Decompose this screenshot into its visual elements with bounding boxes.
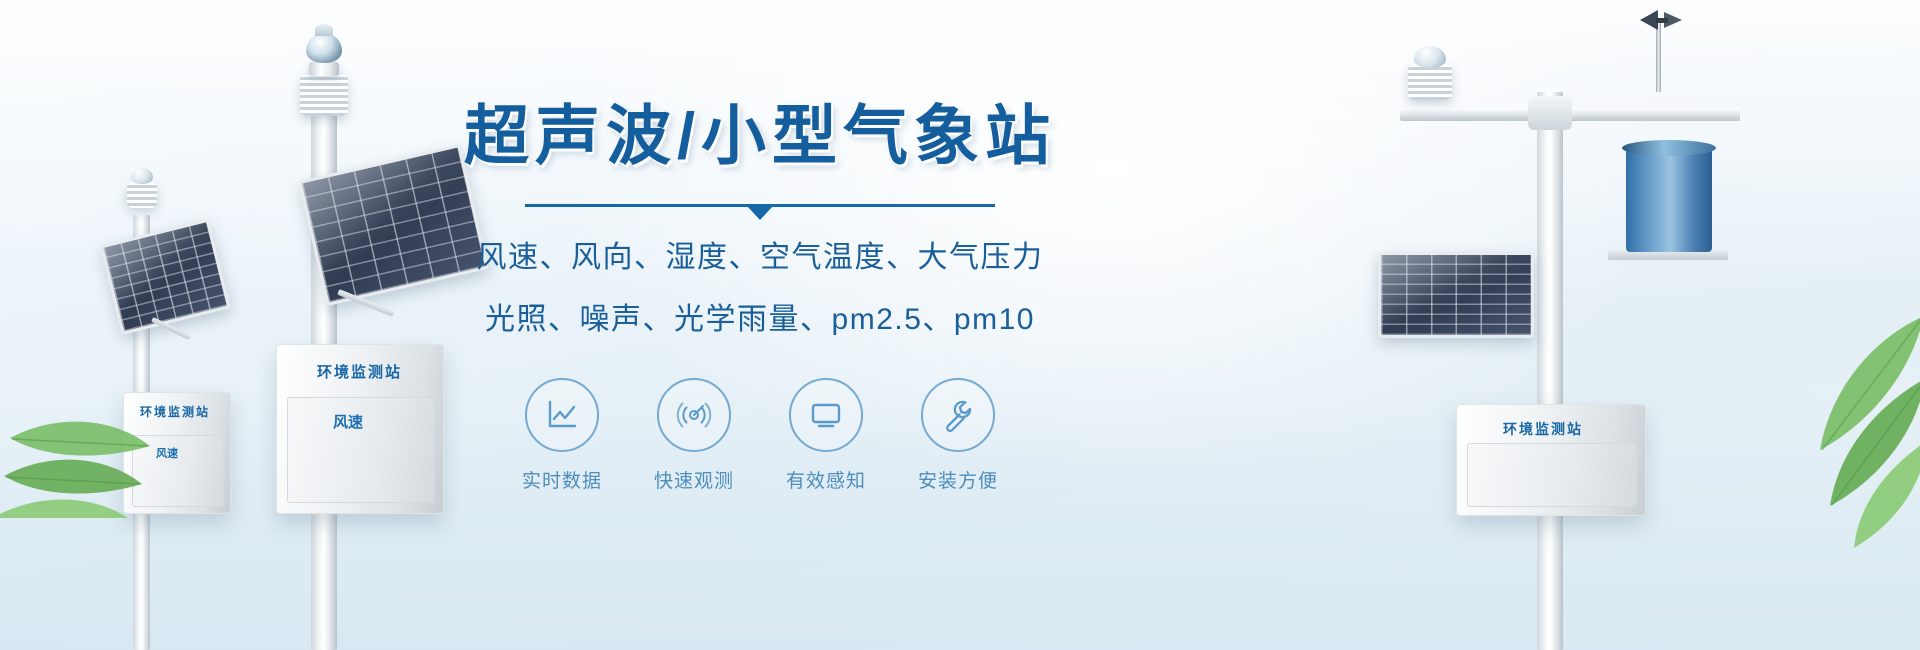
subtitle-line-1: 风速、风向、湿度、空气温度、大气压力 bbox=[440, 235, 1080, 282]
palm-leaf-left bbox=[0, 318, 180, 518]
radiation-shield-right bbox=[1408, 64, 1452, 100]
line-chart-icon bbox=[542, 395, 582, 435]
radiation-shield-tall bbox=[300, 74, 348, 116]
sensor-cap bbox=[315, 24, 333, 36]
feature-label: 快速观测 bbox=[651, 466, 737, 493]
radiation-shield-small bbox=[127, 182, 157, 208]
ultrasonic-wind-sensor bbox=[306, 33, 342, 63]
sensor-dome-small bbox=[131, 168, 153, 184]
feature-item-fast-observation[interactable]: 快速观测 bbox=[651, 378, 737, 493]
feature-icon-circle bbox=[921, 378, 995, 452]
optical-rain-gauge bbox=[1626, 148, 1712, 252]
rain-gauge-rim bbox=[1622, 140, 1716, 156]
feature-list: 实时数据 快速观测 bbox=[440, 378, 1080, 493]
enclosure-door bbox=[1467, 443, 1637, 507]
right-weather-station-photo: 环境监测站 bbox=[1360, 0, 1920, 650]
feature-item-easy-install[interactable]: 安装方便 bbox=[915, 378, 1001, 493]
feature-label: 安装方便 bbox=[915, 466, 1001, 493]
wind-vane-icon bbox=[1636, 6, 1686, 40]
feature-label: 有效感知 bbox=[783, 466, 869, 493]
page-title: 超声波/小型气象站 bbox=[440, 100, 1080, 173]
enclosure-right: 环境监测站 bbox=[1456, 404, 1646, 516]
brand-label-center: 风速 bbox=[333, 411, 363, 432]
solar-panel-right bbox=[1378, 252, 1534, 338]
arm-clamp bbox=[1528, 96, 1572, 130]
feature-label: 实时数据 bbox=[519, 466, 605, 493]
feature-icon-circle bbox=[657, 378, 731, 452]
feature-icon-circle bbox=[525, 378, 599, 452]
sensor-collar-tall bbox=[309, 62, 339, 76]
mast-right bbox=[1537, 92, 1563, 650]
cabinet-label-right: 环境监测站 bbox=[1503, 419, 1583, 439]
enclosure-tall: 环境监测站 风速 bbox=[276, 344, 444, 514]
palm-leaf-right bbox=[1710, 300, 1920, 550]
feature-item-effective-sensing[interactable]: 有效感知 bbox=[783, 378, 869, 493]
subtitle-line-2: 光照、噪声、光学雨量、pm2.5、pm10 bbox=[440, 297, 1080, 344]
wrench-icon bbox=[938, 395, 978, 435]
feature-icon-circle bbox=[789, 378, 863, 452]
title-divider bbox=[525, 201, 995, 219]
solar-cells bbox=[103, 222, 227, 331]
product-banner: 环境监测站 风速 环境监测站 风速 bbox=[0, 0, 1920, 650]
cabinet-label-center: 环境监测站 bbox=[317, 361, 402, 382]
feature-item-realtime-data[interactable]: 实时数据 bbox=[519, 378, 605, 493]
divider-triangle-icon bbox=[747, 206, 773, 220]
solar-cells bbox=[1381, 255, 1531, 335]
banner-content: 超声波/小型气象站 风速、风向、湿度、空气温度、大气压力 光照、噪声、光学雨量、… bbox=[440, 100, 1080, 493]
radar-signal-icon bbox=[674, 395, 714, 435]
ultrasonic-sensor-right bbox=[1414, 46, 1446, 68]
monitor-icon bbox=[806, 395, 846, 435]
